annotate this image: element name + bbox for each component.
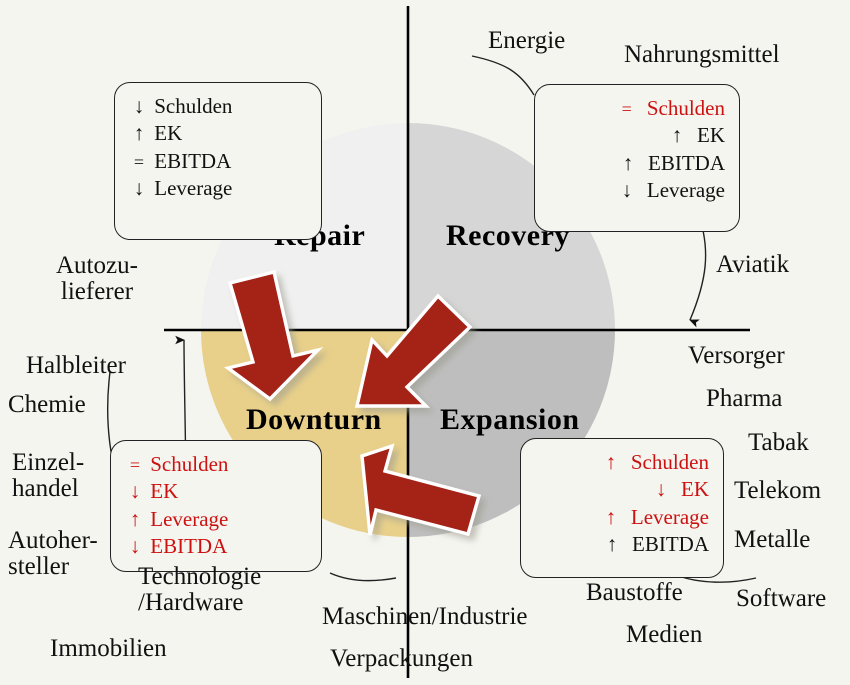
metric-name: EBITDA [643,151,725,175]
arrow-down-icon: ↓ [129,93,149,120]
metric-name: EBITDA [627,532,709,556]
metric-box-downturn: = Schulden↓ EK↑ Leverage↓ EBITDA [110,440,322,572]
metric-name: EK [692,123,725,147]
sector-label-chemie: Chemie [8,392,86,418]
sector-label-autozulieferer: Autozu- lieferer [56,253,138,306]
metric-name: Leverage [626,505,709,529]
metric-name: Leverage [149,176,232,200]
metric-box-expansion: ↑ Schulden↓ EK↑ Leverage↑ EBITDA [520,438,724,578]
metric-row: ↑ Leverage [535,504,709,531]
equals-icon: = [129,151,149,174]
metric-name: Leverage [642,178,725,202]
metric-name: EK [676,477,709,501]
metric-row: ↑ Schulden [535,449,709,476]
sector-label-nahrungsmittel: Nahrungsmittel [624,42,780,68]
sector-label-technologie-hardware: Technologie /Hardware [138,564,261,617]
arrow-down-icon: ↓ [125,478,145,505]
equals-icon: = [125,454,145,477]
arrow-up-icon: ↑ [129,120,149,147]
sector-label-tabak: Tabak [748,430,809,456]
metric-name: Leverage [145,507,228,531]
metric-box-repair: ↓ Schulden↑ EK= EBITDA↓ Leverage [114,82,322,240]
sector-label-autohersteller: Autoher- steller [8,528,98,581]
metric-name: EBITDA [149,149,231,173]
quadrant-label-downturn: Downturn [246,403,382,437]
arrow-up-icon: ↑ [623,150,643,177]
metric-row: ↓ Leverage [129,175,307,202]
sector-label-versorger: Versorger [688,343,785,369]
metric-row: ↓ Leverage [549,177,725,204]
sector-label-halbleiter: Halbleiter [26,353,126,379]
cycle-diagram: Repair Recovery Downturn Expansion ↓ Sch… [0,0,850,685]
sector-label-telekom: Telekom [734,478,821,504]
sector-label-baustoffe: Baustoffe [586,580,683,606]
metric-row: ↑ EBITDA [549,150,725,177]
sector-label-immobilien: Immobilien [50,636,167,662]
arrow-up-icon: ↑ [672,122,692,149]
metric-row: ↓ EK [535,476,709,503]
metric-box-recovery: = Schulden↑ EK↑ EBITDA↓ Leverage [534,84,740,232]
arrow-down-icon: ↓ [656,476,676,503]
quadrant-label-expansion: Expansion [440,403,580,437]
metric-row: ↓ EBITDA [125,533,307,560]
arrow-down-icon: ↓ [622,177,642,204]
connector-downturn-bottom [330,573,396,581]
metric-name: Schulden [642,96,725,120]
metric-name: Schulden [145,452,228,476]
sector-label-metalle: Metalle [734,527,810,553]
metric-name: EK [149,121,182,145]
arrow-up-icon: ↑ [606,449,626,476]
sector-label-maschinen-industrie: Maschinen/Industrie [322,604,528,630]
arrow-up-icon: ↑ [125,506,145,533]
sector-label-medien: Medien [626,622,702,648]
metric-row: ↑ Leverage [125,506,307,533]
arrow-down-icon: ↓ [129,175,149,202]
connector-recovery-energie [472,56,534,95]
metric-row: = EBITDA [129,148,307,175]
metric-name: EK [145,479,178,503]
sector-label-software: Software [736,586,826,612]
metric-name: EBITDA [145,534,227,558]
sector-label-energie: Energie [488,28,565,54]
sector-label-verpackungen: Verpackungen [330,646,473,672]
sector-label-pharma: Pharma [706,386,782,412]
sector-label-einzelhandel: Einzel- handel [12,450,84,503]
metric-row: = Schulden [549,95,725,122]
equals-icon: = [622,98,642,121]
metric-row: ↓ Schulden [129,93,307,120]
metric-name: Schulden [149,94,232,118]
metric-row: = Schulden [125,451,307,478]
metric-row: ↑ EK [129,120,307,147]
sector-label-aviatik: Aviatik [716,252,789,278]
arrow-down-icon: ↓ [125,533,145,560]
metric-name: Schulden [626,450,709,474]
arrow-up-icon: ↑ [607,531,627,558]
metric-row: ↑ EK [549,122,725,149]
arrow-up-icon: ↑ [606,504,626,531]
metric-row: ↓ EK [125,478,307,505]
metric-row: ↑ EBITDA [535,531,709,558]
